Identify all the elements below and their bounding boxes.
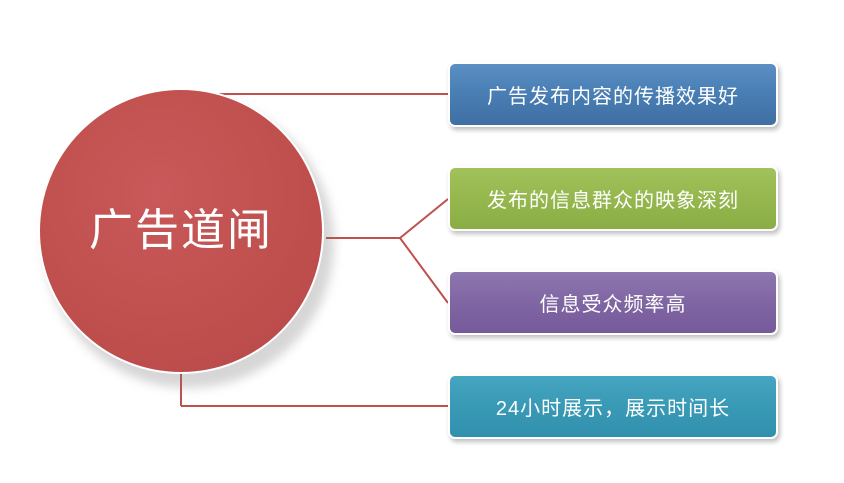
branch-node-1[interactable]: 广告发布内容的传播效果好	[448, 62, 778, 127]
branch-node-2[interactable]: 发布的信息群众的映象深刻	[448, 166, 778, 231]
center-node[interactable]: 广告道闸	[38, 88, 334, 388]
branch-node-3-label: 信息受众频率高	[540, 288, 687, 317]
branch-node-4-label: 24小时展示，展示时间长	[496, 392, 730, 421]
center-node-label: 广告道闸	[89, 207, 273, 255]
center-node-shape[interactable]: 广告道闸	[38, 88, 324, 374]
branch-node-1-label: 广告发布内容的传播效果好	[487, 80, 739, 109]
diagram-canvas: 广告道闸 广告发布内容的传播效果好 发布的信息群众的映象深刻 信息受众频率高 2…	[0, 0, 844, 483]
branch-node-3[interactable]: 信息受众频率高	[448, 270, 778, 335]
branch-node-2-label: 发布的信息群众的映象深刻	[487, 184, 739, 213]
branch-node-4[interactable]: 24小时展示，展示时间长	[448, 374, 778, 439]
